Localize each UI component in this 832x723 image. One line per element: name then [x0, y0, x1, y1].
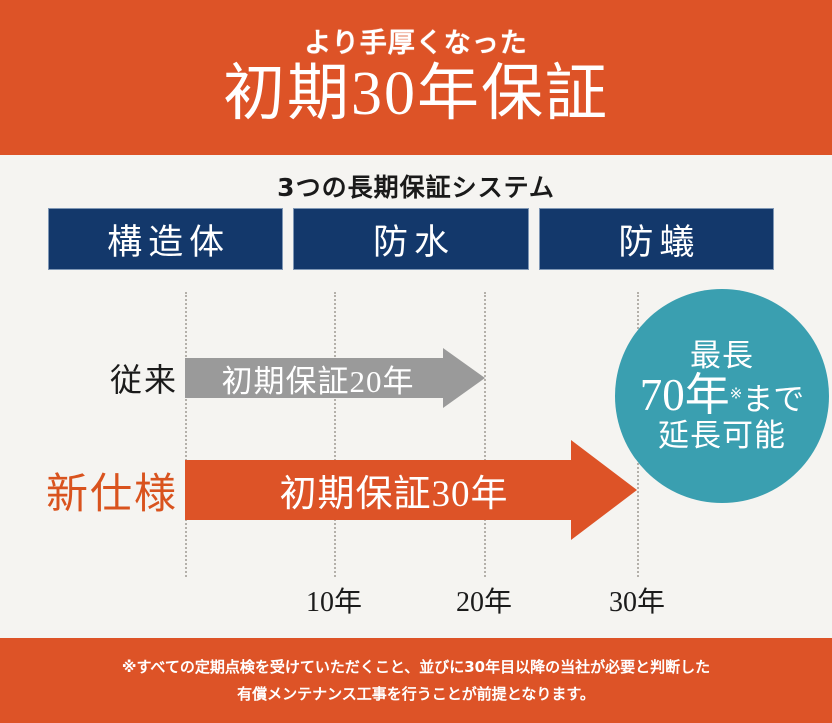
axis-label-20y: 20年	[456, 580, 512, 620]
systems-heading: 3つの長期保証システム	[0, 168, 832, 204]
row-label-new: 新仕様	[0, 440, 178, 540]
system-box-structure[interactable]: 構造体	[48, 208, 283, 270]
header-banner: より手厚くなった 初期30年保証	[0, 0, 832, 155]
arrow-conventional: 初期保証20年	[185, 348, 485, 408]
infographic-root: より手厚くなった 初期30年保証 3つの長期保証システム 構造体 防水 防蟻 最…	[0, 0, 832, 723]
footer-line2: 有償メンテナンス工事を行うことが前提となります。	[237, 681, 595, 707]
footer-line1: ※すべての定期点検を受けていただくこと、並びに30年目以降の当社が必要と判断した	[122, 654, 710, 680]
timeline-row-new: 新仕様 初期保証30年	[0, 440, 832, 540]
system-box-termite[interactable]: 防蟻	[539, 208, 774, 270]
arrow-new: 初期保証30年	[185, 440, 637, 540]
systems-box-row: 構造体 防水 防蟻	[48, 208, 774, 270]
header-subtitle: より手厚くなった	[304, 30, 527, 57]
axis-label-10y: 10年	[306, 580, 362, 620]
timeline-row-conventional: 従来 初期保証20年	[0, 348, 832, 408]
arrow-text-conventional: 初期保証20年	[185, 356, 485, 401]
arrow-text-new: 初期保証30年	[185, 463, 637, 517]
axis-label-30y: 30年	[609, 580, 665, 620]
axis-label-row: 10年 20年 30年	[0, 580, 832, 620]
row-label-conventional: 従来	[0, 348, 178, 408]
timeline-chart: 最長 70年※まで 延長可能 従来 初期保証20年 新仕様 初期保証30年	[0, 280, 832, 630]
header-title: 初期30年保証	[223, 63, 609, 125]
footer-disclaimer: ※すべての定期点検を受けていただくこと、並びに30年目以降の当社が必要と判断した…	[0, 638, 832, 723]
system-box-waterproof[interactable]: 防水	[293, 208, 528, 270]
